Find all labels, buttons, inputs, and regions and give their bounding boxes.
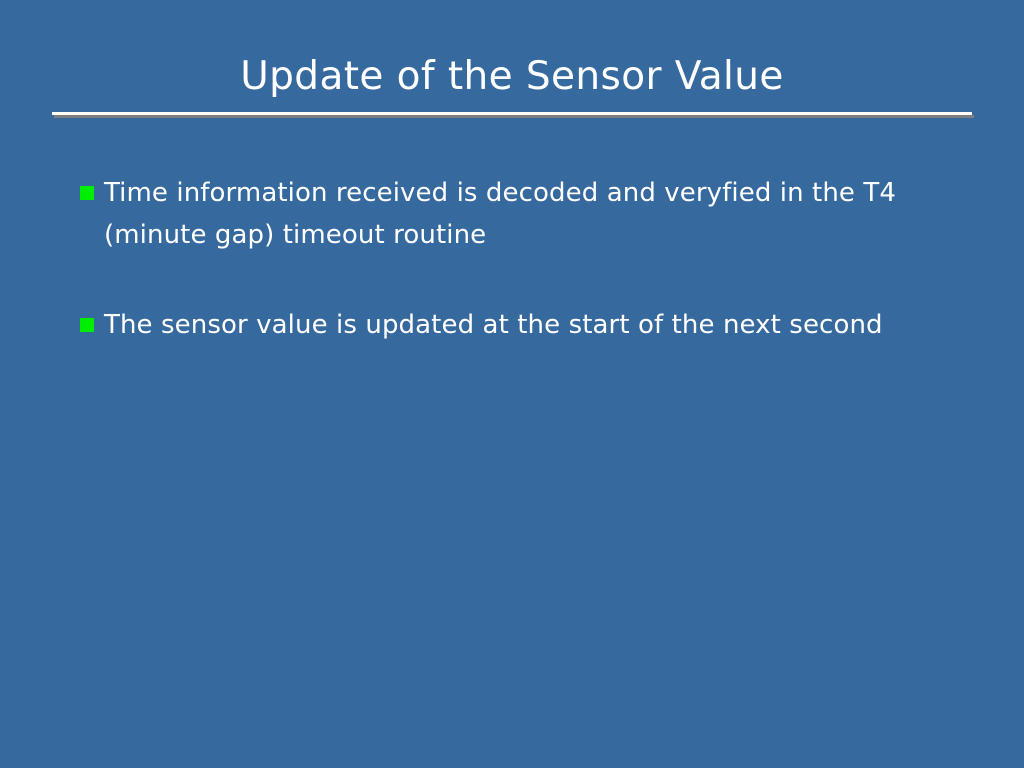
list-item-label: The sensor value is updated at the start…	[104, 304, 950, 346]
list-item: Time information received is decoded and…	[80, 172, 950, 256]
green-square-bullet-icon	[80, 318, 94, 332]
title-divider	[52, 112, 972, 118]
page-title: Update of the Sensor Value	[0, 54, 1024, 100]
presentation-slide: Update of the Sensor Value Time informat…	[0, 0, 1024, 768]
list-item-label: Time information received is decoded and…	[104, 172, 950, 256]
green-square-bullet-icon	[80, 186, 94, 200]
slide-title-block: Update of the Sensor Value	[0, 54, 1024, 100]
list-item: The sensor value is updated at the start…	[80, 304, 950, 346]
slide-body: Time information received is decoded and…	[80, 172, 950, 346]
title-divider-shadow	[54, 115, 974, 118]
